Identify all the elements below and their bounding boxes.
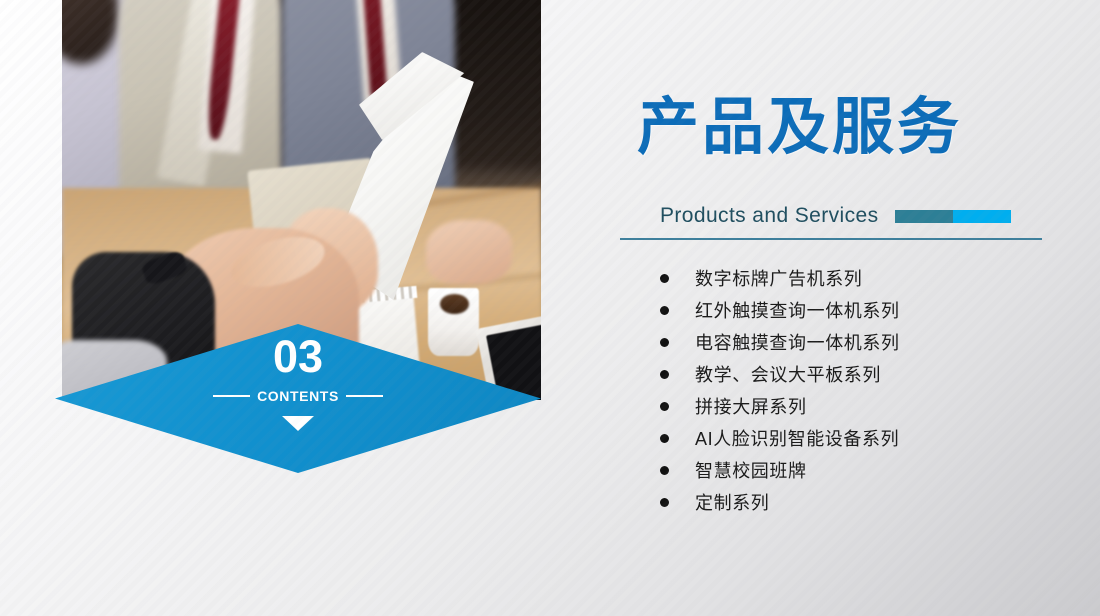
list-item[interactable]: 拼接大屏系列 xyxy=(660,390,1080,422)
bullet-dot-icon xyxy=(660,274,669,283)
bullet-dot-icon xyxy=(660,370,669,379)
accent-bar xyxy=(895,210,1011,223)
list-item[interactable]: 智慧校园班牌 xyxy=(660,454,1080,486)
page-subtitle: Products and Services xyxy=(660,204,879,228)
list-item-label: 红外触摸查询一体机系列 xyxy=(695,297,900,323)
list-item-label: 电容触摸查询一体机系列 xyxy=(695,329,900,355)
list-item[interactable]: 教学、会议大平板系列 xyxy=(660,358,1080,390)
bullet-dot-icon xyxy=(660,338,669,347)
list-item-label: 数字标牌广告机系列 xyxy=(695,265,862,291)
bullet-dot-icon xyxy=(660,434,669,443)
subtitle-row: Products and Services xyxy=(660,204,1011,228)
slide-canvas: 03 CONTENTS 产品及服务 Products and Services … xyxy=(0,0,1100,616)
photo-hands-right xyxy=(426,220,512,284)
list-item-label: 智慧校园班牌 xyxy=(695,457,807,483)
list-item-label: 教学、会议大平板系列 xyxy=(695,361,881,387)
list-item[interactable]: 红外触摸查询一体机系列 xyxy=(660,294,1080,326)
accent-bar-light-segment xyxy=(953,210,1011,223)
bullet-dot-icon xyxy=(660,466,669,475)
bullet-dot-icon xyxy=(660,402,669,411)
page-title: 产品及服务 xyxy=(637,95,962,160)
list-item-label: 定制系列 xyxy=(695,489,769,515)
bullet-dot-icon xyxy=(660,306,669,315)
accent-bar-dark-segment xyxy=(895,210,953,223)
product-list: 数字标牌广告机系列 红外触摸查询一体机系列 电容触摸查询一体机系列 教学、会议大… xyxy=(660,262,1080,518)
list-item-label: 拼接大屏系列 xyxy=(695,393,807,419)
list-item[interactable]: 定制系列 xyxy=(660,486,1080,518)
list-item[interactable]: 电容触摸查询一体机系列 xyxy=(660,326,1080,358)
header-divider xyxy=(620,238,1042,240)
list-item[interactable]: AI人脸识别智能设备系列 xyxy=(660,422,1080,454)
photo-coffee-surface xyxy=(440,294,469,314)
bullet-dot-icon xyxy=(660,498,669,507)
list-item[interactable]: 数字标牌广告机系列 xyxy=(660,262,1080,294)
list-item-label: AI人脸识别智能设备系列 xyxy=(695,425,899,451)
